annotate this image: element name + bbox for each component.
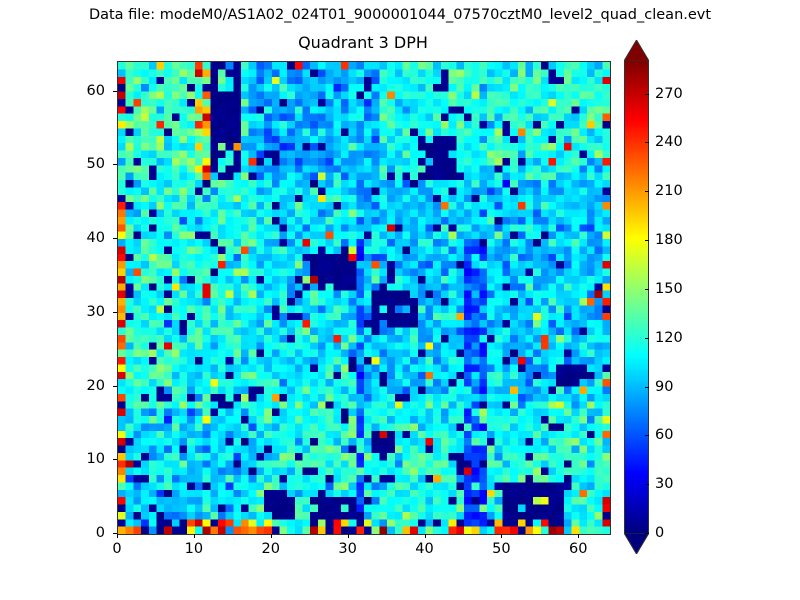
colorbar-tick-mark xyxy=(645,484,649,485)
colorbar-tick-label: 210 xyxy=(655,183,683,199)
x-tick-mark xyxy=(425,534,426,538)
x-tick-label: 60 xyxy=(558,541,598,557)
y-tick-label: 30 xyxy=(65,304,105,320)
y-tick-label: 20 xyxy=(65,378,105,394)
heatmap-axes[interactable] xyxy=(117,61,611,535)
colorbar-tick-label: 60 xyxy=(655,427,673,443)
colorbar-tick-mark xyxy=(645,240,649,241)
x-tick-label: 50 xyxy=(481,541,521,557)
colorbar-tick-label: 240 xyxy=(655,134,683,150)
x-tick-label: 20 xyxy=(251,541,291,557)
colorbar-tick-mark xyxy=(645,387,649,388)
x-tick-label: 30 xyxy=(328,541,368,557)
colorbar-tick-mark xyxy=(645,142,649,143)
colorbar-gradient xyxy=(625,61,648,533)
y-tick-label: 10 xyxy=(65,451,105,467)
colorbar-tick-mark xyxy=(645,191,649,192)
colorbar-under-arrow-icon xyxy=(624,533,649,554)
x-tick-mark xyxy=(117,534,118,538)
colorbar-tick-label: 0 xyxy=(655,525,664,541)
colorbar-tick-label: 180 xyxy=(655,232,683,248)
y-tick-mark xyxy=(113,164,117,165)
colorbar[interactable] xyxy=(624,61,649,533)
y-tick-label: 60 xyxy=(65,83,105,99)
colorbar-tick-mark xyxy=(645,94,649,95)
axes-title: Quadrant 3 DPH xyxy=(117,33,609,53)
y-tick-mark xyxy=(113,533,117,534)
colorbar-tick-label: 270 xyxy=(655,86,683,102)
figure-canvas: Data file: modeM0/AS1A02_024T01_90000010… xyxy=(0,0,800,600)
figure-suptitle: Data file: modeM0/AS1A02_024T01_90000010… xyxy=(0,6,800,24)
colorbar-tick-label: 120 xyxy=(655,330,683,346)
colorbar-tick-mark xyxy=(645,289,649,290)
colorbar-tick-mark xyxy=(645,533,649,534)
colorbar-tick-mark xyxy=(645,435,649,436)
y-tick-mark xyxy=(113,312,117,313)
x-tick-mark xyxy=(348,534,349,538)
x-tick-mark xyxy=(501,534,502,538)
x-tick-mark xyxy=(194,534,195,538)
y-tick-mark xyxy=(113,91,117,92)
y-tick-label: 0 xyxy=(65,525,105,541)
colorbar-body xyxy=(624,61,649,533)
colorbar-tick-mark xyxy=(645,338,649,339)
x-tick-label: 10 xyxy=(174,541,214,557)
y-tick-mark xyxy=(113,238,117,239)
x-tick-label: 40 xyxy=(405,541,445,557)
y-tick-label: 40 xyxy=(65,230,105,246)
heatmap-image xyxy=(118,62,610,534)
y-tick-mark xyxy=(113,386,117,387)
colorbar-over-arrow-icon xyxy=(624,40,649,61)
colorbar-tick-label: 30 xyxy=(655,476,673,492)
x-tick-mark xyxy=(271,534,272,538)
colorbar-tick-label: 90 xyxy=(655,379,673,395)
x-tick-label: 0 xyxy=(97,541,137,557)
y-tick-mark xyxy=(113,459,117,460)
colorbar-tick-label: 150 xyxy=(655,281,683,297)
y-tick-label: 50 xyxy=(65,156,105,172)
x-tick-mark xyxy=(578,534,579,538)
